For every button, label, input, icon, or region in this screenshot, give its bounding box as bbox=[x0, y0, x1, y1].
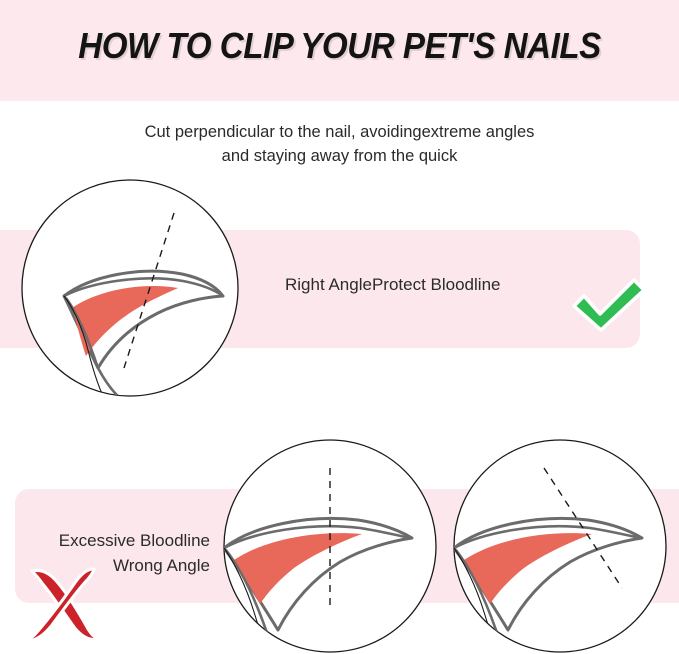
page-title: HOW TO CLIP YOUR PET'S NAILS bbox=[27, 25, 652, 67]
row-2-label-line-2: Wrong Angle bbox=[113, 556, 210, 575]
subtitle-line-2: and staying away from the quick bbox=[222, 147, 458, 165]
wrong-angle-diagram bbox=[452, 438, 668, 654]
row-1-label: Right AngleProtect Bloodline bbox=[285, 275, 500, 295]
x-mark-icon bbox=[22, 563, 108, 648]
subtitle-line-1: Cut perpendicular to the nail, avoidinge… bbox=[145, 123, 535, 141]
row-2-label-line-1: Excessive Bloodline bbox=[59, 531, 210, 550]
excessive-bloodline-diagram bbox=[222, 438, 438, 654]
check-mark-icon bbox=[570, 278, 648, 341]
infographic-page: HOW TO CLIP YOUR PET'S NAILS Cut perpend… bbox=[0, 0, 679, 654]
subtitle: Cut perpendicular to the nail, avoidinge… bbox=[50, 120, 629, 168]
correct-angle-diagram bbox=[20, 178, 240, 398]
